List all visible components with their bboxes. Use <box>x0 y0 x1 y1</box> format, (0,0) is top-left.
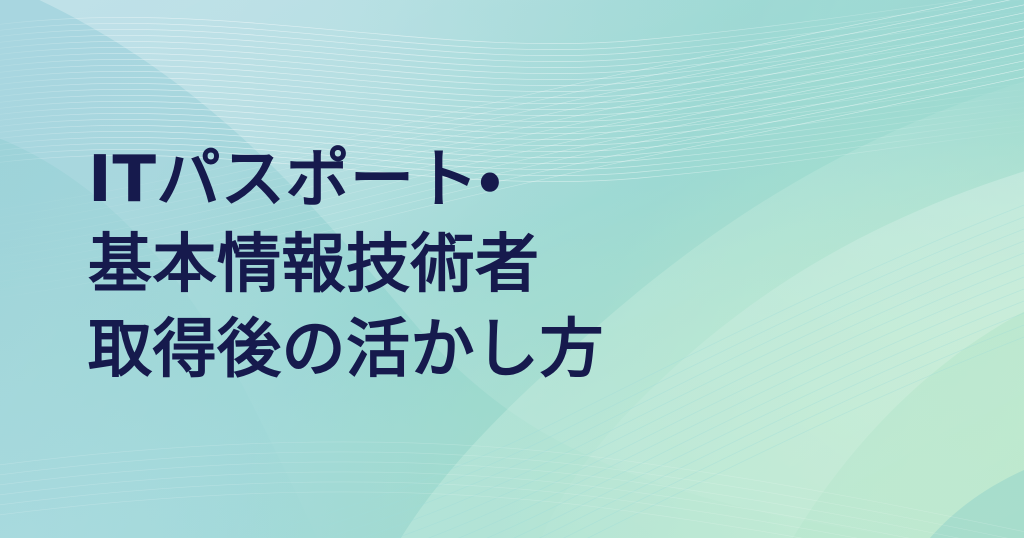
headline: ITパスポート・ 基本情報技術者 取得後の活かし方 <box>88 138 788 393</box>
headline-line-3: 取得後の活かし方 <box>88 308 788 393</box>
headline-line-1: ITパスポート・ <box>88 138 788 223</box>
headline-line-2: 基本情報技術者 <box>88 223 788 308</box>
eyecatch-banner: ITパスポート・ 基本情報技術者 取得後の活かし方 <box>0 0 1024 538</box>
